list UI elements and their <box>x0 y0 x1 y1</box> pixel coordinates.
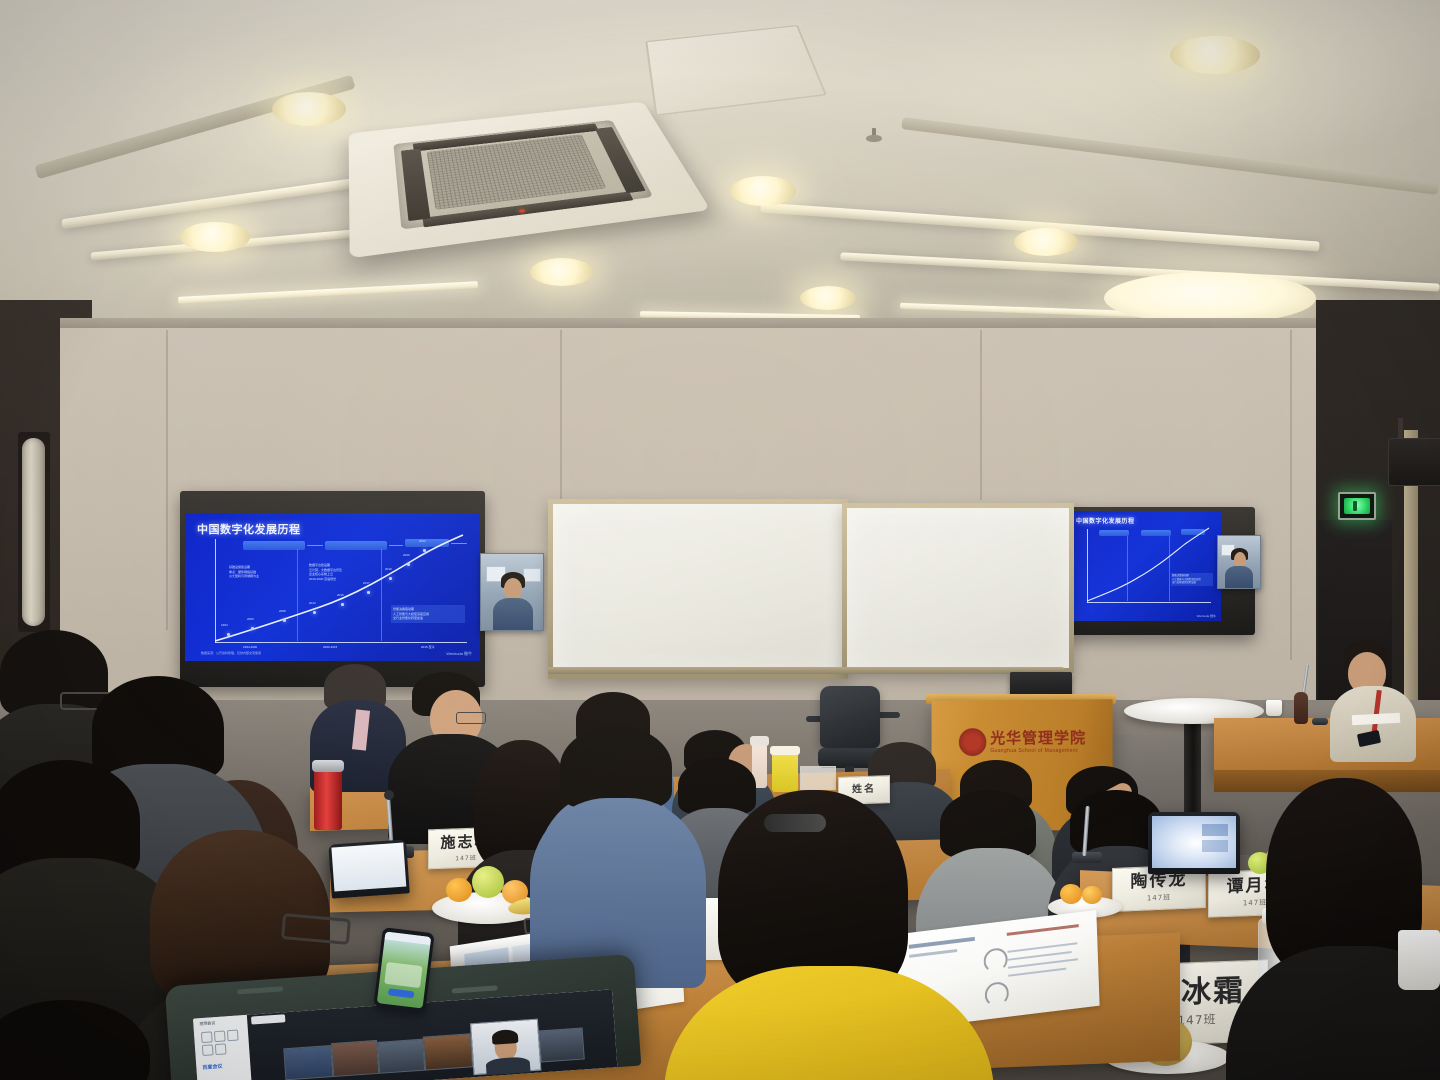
milestone-node-7 <box>389 577 392 580</box>
wipes-canister <box>772 752 798 792</box>
ceiling-soffit-left <box>34 75 355 179</box>
timeline-mark-1: 1994-2000 <box>243 645 257 649</box>
laptop-app-brand: 百度会议 <box>202 1063 222 1071</box>
mug-on-counter <box>1266 700 1282 716</box>
timeline-mark-3: 2015-至今 <box>421 645 435 649</box>
classroom-photo: 中国数字化发展历程 基础设施建设期 重点：硬件网络基础 以大型机与局域网为主 数… <box>0 0 1440 1080</box>
video-tile-hair <box>492 1029 519 1045</box>
sanitizer-pump <box>750 736 769 746</box>
downlight-3 <box>530 258 594 286</box>
video-tile-remote-left[interactable] <box>480 553 544 631</box>
downlight-1 <box>272 92 346 126</box>
ceiling <box>0 0 1440 330</box>
person-foreground-center-hair <box>560 726 672 808</box>
downlight-4 <box>730 176 796 206</box>
office-chair[interactable] <box>820 686 880 748</box>
display-left-bezel: 中国数字化发展历程 基础设施建设期 重点：硬件网络基础 以大型机与局域网为主 数… <box>180 491 485 687</box>
slide-right-growth-curve <box>1087 527 1211 603</box>
milestone-node-5 <box>341 603 344 606</box>
milestone-label-9: 2022 <box>419 539 426 543</box>
placard-class: 147班 <box>455 852 476 862</box>
apple-center <box>472 866 504 898</box>
wall-panel-seam-1 <box>166 330 168 630</box>
laptop-right-video-tile <box>1202 824 1228 836</box>
soda-can <box>314 768 342 830</box>
smartphone-display[interactable] <box>377 931 431 1008</box>
milestone-label-2: 2000 <box>247 617 254 621</box>
wipes-lid <box>770 746 800 755</box>
milestone-label-8: 2020 <box>403 553 410 557</box>
downlight-6 <box>1014 228 1078 256</box>
video-tile-3[interactable] <box>377 1039 425 1074</box>
placard-class: 147班 <box>1243 898 1267 909</box>
ceiling-soffit-right <box>901 117 1438 195</box>
laptop-sidebar-icon-5[interactable] <box>215 1043 227 1055</box>
laptop-foreground-vent-2 <box>452 985 498 993</box>
phone-button[interactable] <box>388 988 415 998</box>
placard-name: 陶传龙 <box>1131 872 1188 891</box>
wall-speaker-icon <box>1388 438 1440 486</box>
soda-can-lid <box>312 760 344 772</box>
oval-ceiling-light <box>1104 272 1316 324</box>
milestone-label-7: 2019 <box>385 567 392 571</box>
person-row2-f-hair <box>678 758 756 814</box>
slide-brand-logo: Weiniuda 微牛 <box>446 651 472 657</box>
ceiling-ac-unit <box>349 102 711 259</box>
bottle-far-right <box>1294 692 1308 724</box>
video-tile-active-speaker[interactable] <box>470 1019 541 1076</box>
milestone-node-6 <box>367 591 370 594</box>
milestone-label-1: 1994 <box>221 623 228 627</box>
video-tile-4[interactable] <box>423 1033 473 1070</box>
milestone-label-6: 2017 <box>363 581 370 585</box>
wall-panel-seam-2 <box>560 330 562 500</box>
wall-panel-seam-3 <box>980 330 982 500</box>
placard-class: 147班 <box>1147 892 1171 903</box>
laptop-sidebar-icon-4[interactable] <box>202 1044 214 1056</box>
video-tile-body <box>486 1056 531 1075</box>
sprinkler-head <box>866 128 882 146</box>
whiteboard-left[interactable] <box>548 499 848 679</box>
guanghua-name-en: Guanghua School of Management <box>990 747 1086 753</box>
milestone-node-1 <box>227 633 230 636</box>
front-display-wall: 中国数字化发展历程 基础设施建设期 重点：硬件网络基础 以大型机与局域网为主 数… <box>180 485 1255 685</box>
orange-center-1 <box>446 878 472 902</box>
guanghua-name-cn: 光华管理学院 <box>990 730 1086 745</box>
laptop-sidebar-icon-1[interactable] <box>201 1031 213 1043</box>
smartphone[interactable] <box>373 927 434 1013</box>
laptop-right[interactable] <box>1148 812 1240 874</box>
display-left-screen[interactable]: 中国数字化发展历程 基础设施建设期 重点：硬件网络基础 以大型机与局域网为主 数… <box>185 513 480 661</box>
display-right-screen[interactable]: 中国数字化发展历程 智能决策驱动期 人工智能与大模型深度应用 全行业智能化转型加… <box>1069 511 1221 621</box>
milestone-label-3: 2008 <box>279 609 286 613</box>
downlight-5 <box>800 286 856 310</box>
downlight-7 <box>1170 36 1260 74</box>
mic-base-2 <box>1072 852 1102 863</box>
display-right-bezel: 中国数字化发展历程 智能决策驱动期 人工智能与大模型深度应用 全行业智能化转型加… <box>1065 507 1255 635</box>
wall-top-seam <box>60 318 1330 328</box>
milestone-node-3 <box>283 619 286 622</box>
guanghua-logo: 光华管理学院 Guanghua School of Management <box>959 722 1098 762</box>
slide-right-brand-logo: Weiniuda 微牛 <box>1197 614 1216 618</box>
laptop-sidebar-icon-3[interactable] <box>227 1030 239 1042</box>
exit-sign-icon <box>1338 492 1376 520</box>
milestone-node-8 <box>407 563 410 566</box>
laptop-right-video-tile-2 <box>1202 840 1228 852</box>
paper-cup-foreground <box>1398 930 1440 990</box>
laptop-app-title: 视频会议 <box>199 1020 215 1027</box>
whiteboard-right[interactable] <box>842 503 1074 673</box>
orange-mid-right-2 <box>1082 886 1102 904</box>
slide-footer-note: 数据来源：公开资料整理，仅供内部交流使用 <box>201 651 261 655</box>
laptop-right-display <box>1152 816 1236 868</box>
tissue-box-row3 <box>800 766 836 790</box>
video-tile-1[interactable] <box>283 1045 333 1080</box>
ceiling-access-panel <box>645 25 827 116</box>
slide-right-body-3: 智能决策驱动期 人工智能与大模型深度应用 全行业智能化转型加速 <box>1171 573 1213 586</box>
downlight-2 <box>180 222 250 252</box>
milestone-node-4 <box>313 611 316 614</box>
video-tile-2[interactable] <box>331 1040 379 1077</box>
whiteboard-marker-tray <box>548 667 1064 674</box>
person-row3-b-glasses <box>456 712 486 724</box>
orange-mid-right-1 <box>1060 884 1082 904</box>
video-tile-remote-right[interactable] <box>1217 535 1261 589</box>
timeline-mark-2: 2000-2015 <box>323 645 337 649</box>
slide-title-right: 中国数字化发展历程 <box>1076 516 1135 525</box>
strip-light-left <box>178 281 478 304</box>
laptop-foreground-vent-1 <box>237 986 283 994</box>
milestone-label-5: 2015 <box>337 593 344 597</box>
guanghua-seal-icon <box>959 728 986 756</box>
milestone-label-4: 2013 <box>309 601 316 605</box>
wall-panel-seam-4 <box>1290 330 1292 660</box>
laptop-sidebar-icon-2[interactable] <box>214 1030 226 1042</box>
placard-name: 姓名 <box>852 785 876 796</box>
column-speaker-icon <box>22 438 45 626</box>
round-table-leg <box>1184 716 1201 826</box>
phone-content-card <box>384 962 422 988</box>
hair-tie <box>764 814 826 832</box>
laptop-midleft-display <box>331 843 406 892</box>
laptop-midleft[interactable] <box>328 839 410 898</box>
mic-head-1 <box>384 790 394 800</box>
phone-app-header <box>385 931 432 945</box>
video-tile-5[interactable] <box>539 1027 585 1062</box>
milestone-node-9 <box>423 549 426 552</box>
milestone-node-2 <box>251 627 254 630</box>
mic-base-far-right <box>1312 718 1328 725</box>
